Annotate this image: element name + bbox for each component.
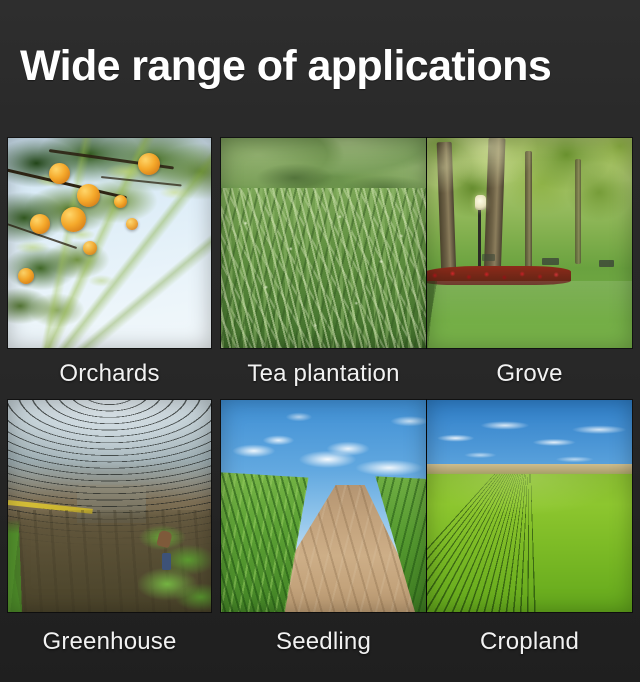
crop-cluster <box>138 519 211 612</box>
applications-grid: Orchards Tea plantation <box>0 132 640 652</box>
tile-caption-seedling: Seedling <box>221 628 426 656</box>
tile-caption-orchards: Orchards <box>8 360 211 388</box>
orange-fruit <box>114 195 127 208</box>
orange-fruit <box>49 163 70 184</box>
applications-poster: { "page": { "title": "Wide range of appl… <box>0 0 640 682</box>
orange-fruit <box>83 241 97 255</box>
orange-fruit <box>126 218 138 230</box>
sunlight-layer <box>427 138 632 348</box>
tile-caption-greenhouse: Greenhouse <box>8 628 211 656</box>
highlight-layer <box>8 138 211 348</box>
tile-caption-grove: Grove <box>427 360 632 388</box>
photo-orchards <box>8 138 211 348</box>
tile-seedling[interactable]: Seedling <box>221 400 426 612</box>
orange-fruit <box>61 207 86 232</box>
photo-greenhouse <box>8 400 211 612</box>
photo-cropland <box>427 400 632 612</box>
field-glow-layer <box>427 474 632 612</box>
grid-row-2: Greenhouse Seedling <box>0 394 640 652</box>
tile-cropland[interactable]: Cropland <box>427 400 632 612</box>
page-title: Wide range of applications <box>20 41 551 91</box>
photo-tea-plantation <box>221 138 426 348</box>
photo-seedling <box>221 400 426 612</box>
grid-row-1: Orchards Tea plantation <box>0 132 640 394</box>
photo-grove <box>427 138 632 348</box>
tile-caption-cropland: Cropland <box>427 628 632 656</box>
tile-caption-tea-plantation: Tea plantation <box>221 360 426 388</box>
tile-orchards[interactable]: Orchards <box>8 138 211 348</box>
orange-fruit <box>138 153 160 175</box>
tile-greenhouse[interactable]: Greenhouse <box>8 400 211 612</box>
tile-grove[interactable]: Grove <box>427 138 632 348</box>
worker-legs <box>162 553 171 570</box>
leaf-highlight-layer <box>221 188 426 348</box>
tile-tea-plantation[interactable]: Tea plantation <box>221 138 426 348</box>
orange-fruit <box>30 214 50 234</box>
